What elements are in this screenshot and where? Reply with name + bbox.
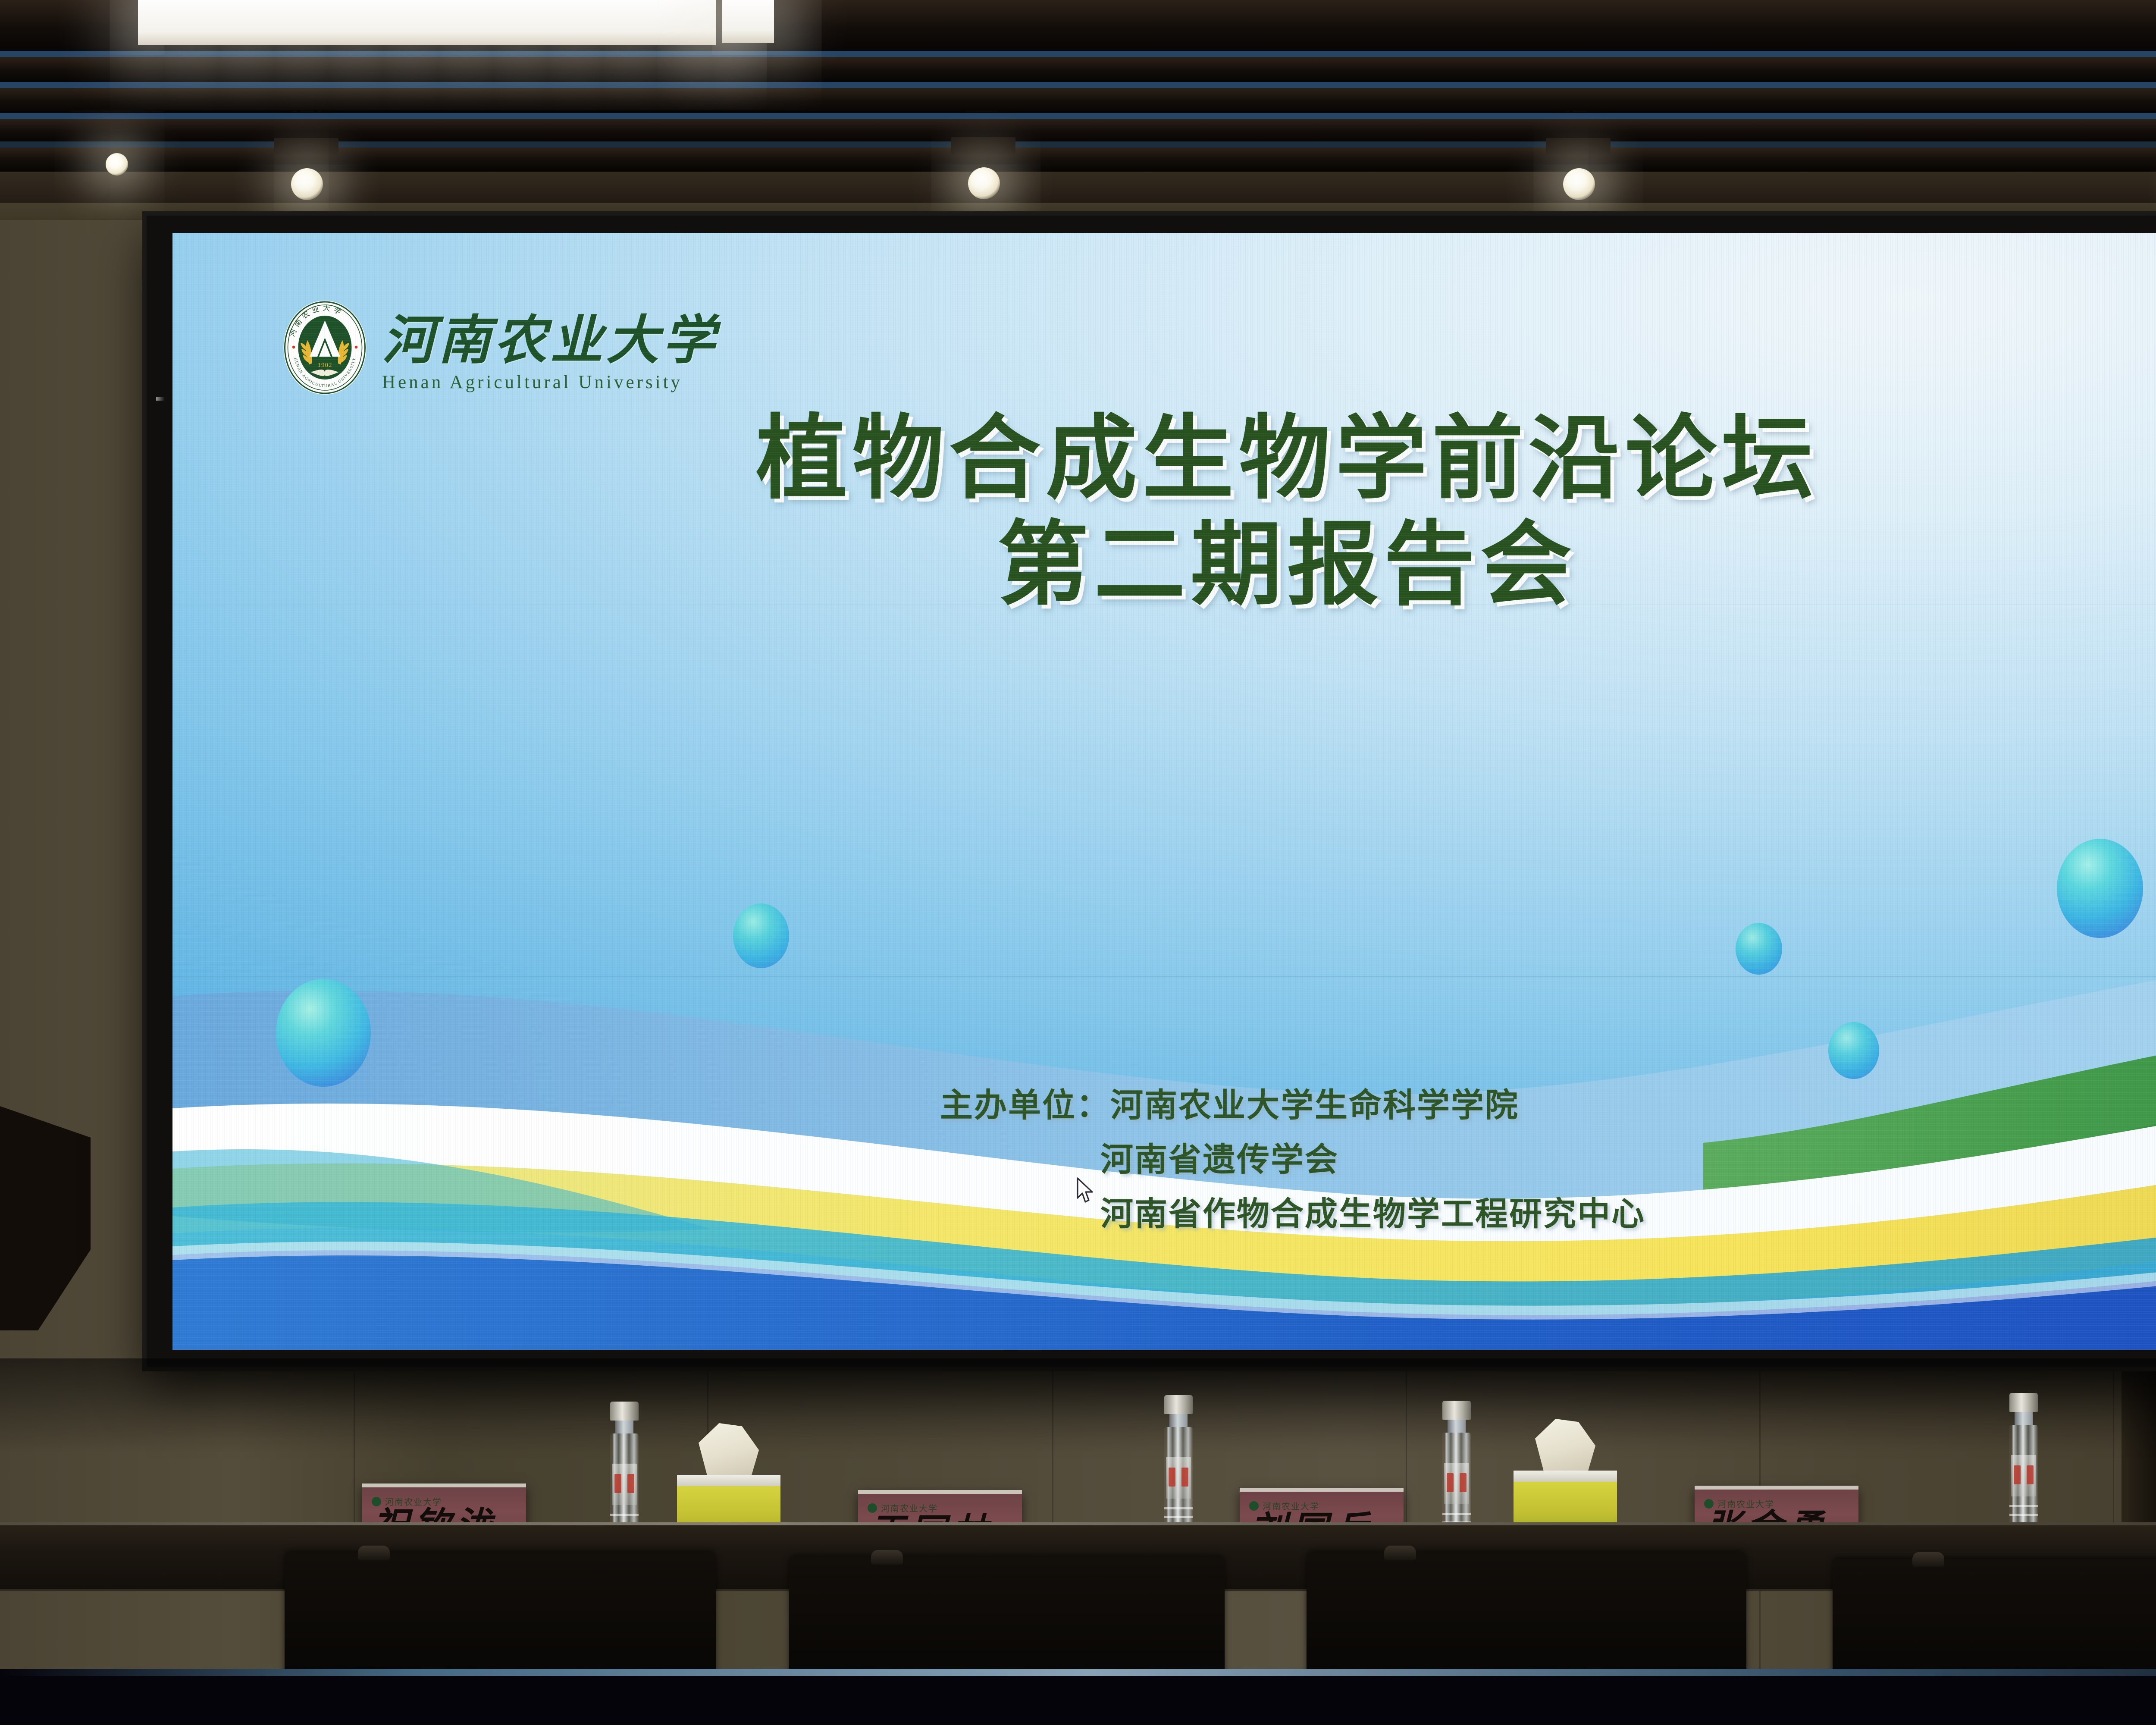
water-bottle-3[interactable] <box>1442 1401 1471 1540</box>
university-name-en: Henan Agricultural University <box>382 372 718 393</box>
mouse-pointer-icon <box>1076 1177 1095 1204</box>
downlight-housing-3 <box>1546 138 1611 155</box>
downlight-3 <box>1563 168 1595 200</box>
conference-room: 1902 河南农业大学 HENAN AGRICUL <box>0 0 2156 1725</box>
crest-dot-icon <box>868 1503 877 1513</box>
title-line-2: 第二期报告会 <box>172 511 2156 618</box>
bubble-right-large <box>2057 839 2143 938</box>
university-name-cn: 河南农业大学 <box>382 315 718 367</box>
bubble-right-small <box>1736 923 1782 975</box>
ceiling-light-strip-2 <box>722 0 774 43</box>
university-logo-lockup: 1902 河南农业大学 HENAN AGRICUL <box>282 300 718 395</box>
water-bottle-4[interactable] <box>2009 1393 2038 1533</box>
led-display-wall[interactable]: 1902 河南农业大学 HENAN AGRICUL <box>147 216 2156 1367</box>
title-line-1: 植物合成生物学前沿论坛 <box>172 405 2156 511</box>
bubble-left-small <box>733 903 789 968</box>
svg-text:1902: 1902 <box>318 362 332 369</box>
bubble-center-small <box>1828 1022 1879 1079</box>
downlight-5 <box>106 153 128 176</box>
ceiling-slats <box>0 0 2156 203</box>
crest-dot-icon <box>372 1497 381 1506</box>
downlight-2 <box>968 167 1000 199</box>
crest-dot-icon <box>1704 1499 1714 1509</box>
downlight-housing-2 <box>951 137 1015 154</box>
slide-title: 植物合成生物学前沿论坛 第二期报告会 <box>172 405 2156 618</box>
floor <box>0 1669 2156 1725</box>
organizer-line-1: 主办单位：河南农业大学生命科学学院 <box>940 1078 1645 1132</box>
water-bottle-1[interactable] <box>610 1402 639 1541</box>
organizer-line-3: 河南省作物合成生物学工程研究中心 <box>940 1187 1645 1241</box>
water-bottle-2[interactable] <box>1164 1395 1193 1535</box>
bubble-left-large <box>276 979 371 1087</box>
downlight-housing-1 <box>274 138 338 155</box>
presentation-slide[interactable]: 1902 河南农业大学 HENAN AGRICUL <box>172 233 2156 1350</box>
slide-organizers: 主办单位：河南农业大学生命科学学院 河南省遗传学会 河南省作物合成生物学工程研究… <box>940 1078 1645 1241</box>
stage-shadow <box>0 1358 2156 1453</box>
crest-dot-icon <box>1249 1501 1259 1511</box>
ceiling-light-strip <box>138 0 716 45</box>
university-wordmark: 河南农业大学 Henan Agricultural University <box>382 315 718 395</box>
downlight-1 <box>291 168 323 200</box>
university-crest: 1902 河南农业大学 HENAN AGRICUL <box>282 300 367 395</box>
organizer-line-2: 河南省遗传学会 <box>940 1132 1645 1187</box>
